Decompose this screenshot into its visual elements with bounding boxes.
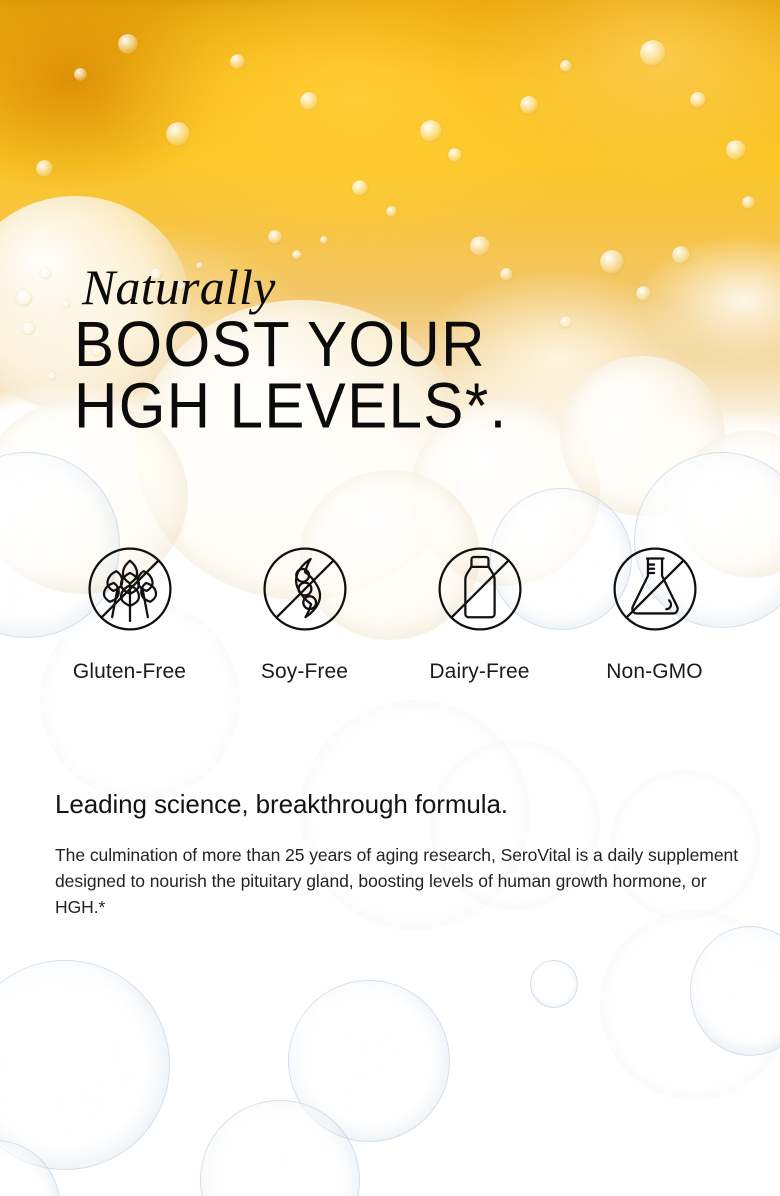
fizz-dot [470, 236, 490, 256]
copy-body: The culmination of more than 25 years of… [55, 842, 745, 920]
fizz-dot [420, 120, 442, 142]
no-flask-icon [608, 542, 702, 641]
badge-label: Dairy-Free [429, 660, 529, 684]
water-bubble [0, 1140, 60, 1196]
fizz-dot [48, 372, 56, 380]
water-bubble [0, 960, 170, 1170]
fizz-dot [560, 60, 572, 72]
fizz-dot [726, 140, 746, 160]
fizz-dot [22, 322, 35, 335]
badge-soy-free: Soy-Free [217, 542, 392, 684]
badge-label: Non-GMO [606, 660, 702, 684]
fizz-dot [352, 180, 368, 196]
fizz-dot [742, 196, 755, 209]
fizz-dot [118, 34, 138, 54]
fizz-dot [300, 92, 318, 110]
fizz-dot [640, 40, 666, 66]
badge-non-gmo: Non-GMO [567, 542, 742, 684]
fizz-dot [386, 206, 397, 217]
fizz-dot [166, 122, 190, 146]
fizz-dot [448, 148, 462, 162]
fizz-dot [36, 160, 53, 177]
hero-headline: BOOST YOUR HGH LEVELS*. [74, 314, 714, 437]
no-wheat-icon [83, 542, 177, 641]
badge-gluten-free: Gluten-Free [42, 542, 217, 684]
hero-headline-block: Naturally BOOST YOUR HGH LEVELS*. [74, 262, 714, 430]
fizz-dot [268, 230, 282, 244]
fizz-dot [520, 96, 538, 114]
fizz-dot [690, 92, 706, 108]
product-banner: Naturally BOOST YOUR HGH LEVELS*. [0, 0, 780, 1196]
certification-badge-row: Gluten-Free S [42, 542, 742, 684]
badge-label: Soy-Free [261, 660, 348, 684]
copy-heading: Leading science, breakthrough formula. [55, 789, 745, 820]
copy-block: Leading science, breakthrough formula. T… [55, 789, 745, 920]
water-bubble [200, 1100, 360, 1196]
fizz-dot [16, 290, 32, 306]
badge-dairy-free: Dairy-Free [392, 542, 567, 684]
fizz-dot [292, 250, 302, 260]
water-bubble [288, 980, 450, 1142]
hero-script-word: Naturally [82, 262, 714, 312]
water-bubble-soft [600, 910, 780, 1100]
no-soybean-icon [258, 542, 352, 641]
fizz-dot [230, 54, 245, 69]
no-milk-bottle-icon [433, 542, 527, 641]
fizz-dot [62, 300, 70, 308]
fizz-dot [320, 236, 328, 244]
water-bubble [690, 926, 780, 1056]
water-bubble [530, 960, 578, 1008]
fizz-dot [40, 268, 51, 279]
badge-label: Gluten-Free [73, 660, 186, 684]
fizz-dot [74, 68, 87, 81]
